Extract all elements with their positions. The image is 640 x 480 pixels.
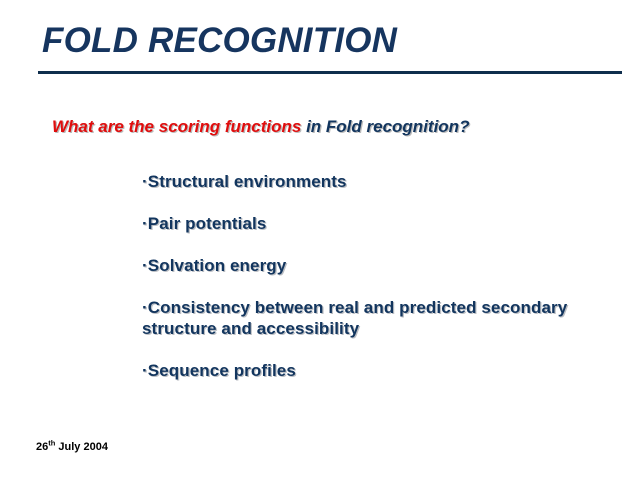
list-item: ·Solvation energy [142, 255, 622, 276]
footer-date: 26th July 2004 [36, 440, 108, 454]
slide-canvas: FOLD RECOGNITION What are the scoring fu… [0, 0, 640, 480]
footer-day-number: 26 [36, 441, 48, 453]
list-item-label: Consistency between real and predicted s… [142, 298, 567, 338]
list-item-label: Pair potentials [148, 214, 267, 233]
subtitle-question: What are the scoring functions in Fold r… [52, 116, 469, 138]
bullet-list: ·Structural environments ·Pair potential… [142, 171, 622, 381]
list-item: ·Structural environments [142, 171, 622, 192]
title-divider [38, 71, 622, 74]
page-title: FOLD RECOGNITION [42, 21, 397, 61]
list-item: ·Sequence profiles [142, 360, 622, 381]
subtitle-rest: in Fold recognition? [301, 117, 469, 136]
subtitle-highlight: What are the scoring functions [52, 117, 301, 136]
list-item-label: Solvation energy [148, 256, 287, 275]
list-item: ·Pair potentials [142, 213, 622, 234]
list-item: ·Consistency between real and predicted … [142, 297, 622, 339]
footer-month-year: July 2004 [55, 441, 108, 453]
list-item-label: Structural environments [148, 172, 347, 191]
list-item-label: Sequence profiles [148, 361, 296, 380]
